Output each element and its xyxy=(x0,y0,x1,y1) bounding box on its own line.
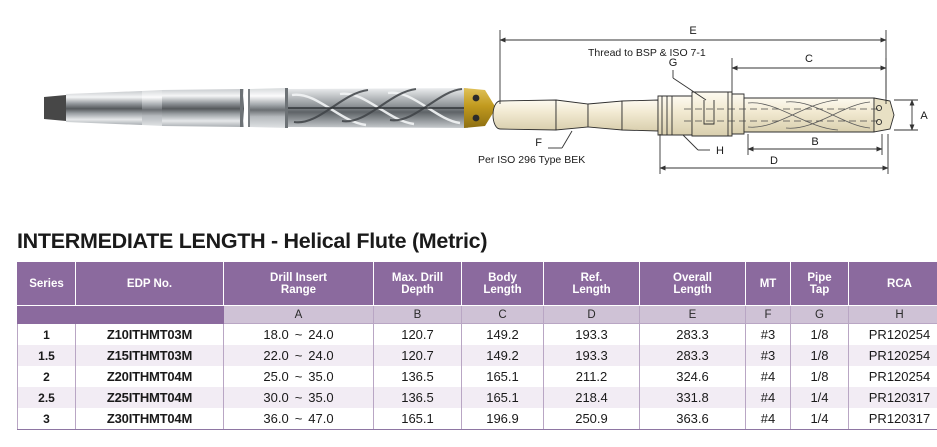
cell-series: 1 xyxy=(18,324,76,346)
cell-drill-insert-range: 30.0~35.0 xyxy=(224,387,374,408)
range-max: 35.0 xyxy=(308,369,333,384)
cell-rca: PR120254 xyxy=(849,324,937,346)
cell-overall-length: 283.3 xyxy=(640,324,746,346)
range-max: 47.0 xyxy=(308,411,333,426)
col-header-ref-length: Ref. Length xyxy=(544,263,640,306)
col-header-edp-line1: EDP No. xyxy=(127,278,172,290)
specification-table: Series EDP No. Drill Insert Range Max. D… xyxy=(17,262,937,430)
cell-drill-insert-range: 18.0~24.0 xyxy=(224,324,374,346)
cell-ref-length: 211.2 xyxy=(544,366,640,387)
col-header-pipe-tap: Pipe Tap xyxy=(791,263,849,306)
col-header-body-length: Body Length xyxy=(462,263,544,306)
table-head: Series EDP No. Drill Insert Range Max. D… xyxy=(18,263,937,324)
leader-line-F xyxy=(548,131,572,148)
cell-mt: #4 xyxy=(746,387,791,408)
range-max: 24.0 xyxy=(308,327,333,342)
range-max: 35.0 xyxy=(308,390,333,405)
cell-mt: #3 xyxy=(746,345,791,366)
subheader-F: F xyxy=(746,306,791,324)
cell-rca: PR120254 xyxy=(849,366,937,387)
range-separator: ~ xyxy=(289,327,309,342)
cell-max-drill-depth: 136.5 xyxy=(374,366,462,387)
cell-pipe-tap: 1/8 xyxy=(791,366,849,387)
col-header-series-line1: Series xyxy=(29,278,64,290)
leader-line-H xyxy=(683,135,710,150)
dimension-label-H: H xyxy=(716,145,724,157)
range-min: 25.0 xyxy=(263,369,288,384)
cell-edp: Z30ITHMT04M xyxy=(76,408,224,430)
cell-pipe-tap: 1/8 xyxy=(791,324,849,346)
table-row: 2 Z20ITHMT04M 25.0~35.0 136.5 165.1 211.… xyxy=(18,366,937,387)
cell-max-drill-depth: 120.7 xyxy=(374,324,462,346)
cell-drill-insert-range: 25.0~35.0 xyxy=(224,366,374,387)
dimension-label-D: D xyxy=(770,155,778,167)
drill-coolant-sleeve xyxy=(250,88,288,128)
cell-max-drill-depth: 136.5 xyxy=(374,387,462,408)
cell-overall-length: 324.6 xyxy=(640,366,746,387)
cell-body-length: 149.2 xyxy=(462,324,544,346)
cell-ref-length: 193.3 xyxy=(544,324,640,346)
dimension-label-F: F xyxy=(535,137,542,149)
col-header-rca: RCA xyxy=(849,263,937,306)
cell-rca: PR120317 xyxy=(849,408,937,430)
drill-photo-svg xyxy=(44,78,496,138)
cell-ref-length: 218.4 xyxy=(544,387,640,408)
dimension-label-E: E xyxy=(689,25,696,37)
dimension-line-A xyxy=(894,100,918,130)
cell-mt: #3 xyxy=(746,324,791,346)
table-row: 1 Z10ITHMT03M 18.0~24.0 120.7 149.2 193.… xyxy=(18,324,937,346)
col-header-ref-line2: Length xyxy=(572,284,610,296)
range-separator: ~ xyxy=(289,390,309,405)
cell-max-drill-depth: 165.1 xyxy=(374,408,462,430)
cell-pipe-tap: 1/4 xyxy=(791,387,849,408)
cell-overall-length: 331.8 xyxy=(640,387,746,408)
col-header-range-line1: Drill Insert xyxy=(270,272,327,284)
cell-edp: Z10ITHMT03M xyxy=(76,324,224,346)
range-min: 22.0 xyxy=(263,348,288,363)
schematic-svg: E C B D xyxy=(470,8,937,180)
cell-max-drill-depth: 120.7 xyxy=(374,345,462,366)
col-header-overall-line1: Overall xyxy=(673,272,712,284)
drill-shank-step-1 xyxy=(142,90,162,126)
table-row: 3 Z30ITHMT04M 36.0~47.0 165.1 196.9 250.… xyxy=(18,408,937,430)
cell-body-length: 165.1 xyxy=(462,387,544,408)
cell-ref-length: 193.3 xyxy=(544,345,640,366)
cell-drill-insert-range: 22.0~24.0 xyxy=(224,345,374,366)
col-header-mt: MT xyxy=(746,263,791,306)
cell-rca: PR120254 xyxy=(849,345,937,366)
cell-body-length: 149.2 xyxy=(462,345,544,366)
cell-edp: Z15ITHMT03M xyxy=(76,345,224,366)
col-header-range-line2: Range xyxy=(281,284,316,296)
subheader-D: D xyxy=(544,306,640,324)
cell-series: 2.5 xyxy=(18,387,76,408)
subheader-H: H xyxy=(849,306,937,324)
dimension-label-B: B xyxy=(811,136,818,148)
cell-mt: #4 xyxy=(746,366,791,387)
illustration-area: E C B D xyxy=(0,0,937,215)
cell-series: 3 xyxy=(18,408,76,430)
drill-body-segment xyxy=(162,89,244,127)
col-header-pipetap-line2: Tap xyxy=(810,284,830,296)
drill-taper-shank xyxy=(66,91,142,125)
col-header-body-line1: Body xyxy=(488,272,517,284)
table-body: 1 Z10ITHMT03M 18.0~24.0 120.7 149.2 193.… xyxy=(18,324,937,430)
range-min: 30.0 xyxy=(263,390,288,405)
range-max: 24.0 xyxy=(308,348,333,363)
col-header-max-drill-depth: Max. Drill Depth xyxy=(374,263,462,306)
subheader-C: C xyxy=(462,306,544,324)
dimension-label-A: A xyxy=(920,110,928,122)
drill-tang xyxy=(44,95,66,121)
col-header-body-line2: Length xyxy=(483,284,521,296)
col-header-drill-insert-range: Drill Insert Range xyxy=(224,263,374,306)
table-row: 1.5 Z15ITHMT03M 22.0~24.0 120.7 149.2 19… xyxy=(18,345,937,366)
cell-pipe-tap: 1/8 xyxy=(791,345,849,366)
range-separator: ~ xyxy=(289,369,309,384)
cell-rca: PR120317 xyxy=(849,387,937,408)
page-title: INTERMEDIATE LENGTH - Helical Flute (Met… xyxy=(17,229,487,254)
cell-overall-length: 283.3 xyxy=(640,345,746,366)
table-header-row: Series EDP No. Drill Insert Range Max. D… xyxy=(18,263,937,306)
table-subheader-row: A B C D E F G H xyxy=(18,306,937,324)
cell-edp: Z20ITHMT04M xyxy=(76,366,224,387)
subheader-G: G xyxy=(791,306,849,324)
cell-drill-insert-range: 36.0~47.0 xyxy=(224,408,374,430)
cell-body-length: 196.9 xyxy=(462,408,544,430)
range-min: 36.0 xyxy=(263,411,288,426)
cell-ref-length: 250.9 xyxy=(544,408,640,430)
subheader-B: B xyxy=(374,306,462,324)
col-header-pipetap-line1: Pipe xyxy=(807,272,831,284)
col-header-mt-line1: MT xyxy=(760,278,777,290)
subheader-series xyxy=(18,306,76,324)
dimension-label-C: C xyxy=(805,53,813,65)
cell-series: 2 xyxy=(18,366,76,387)
cell-series: 1.5 xyxy=(18,345,76,366)
col-header-rca-line1: RCA xyxy=(887,278,912,290)
cell-overall-length: 363.6 xyxy=(640,408,746,430)
drill-collar-ring-3 xyxy=(285,88,288,128)
range-separator: ~ xyxy=(289,411,309,426)
subheader-edp xyxy=(76,306,224,324)
cell-pipe-tap: 1/4 xyxy=(791,408,849,430)
cell-edp: Z25ITHMT04M xyxy=(76,387,224,408)
table-row: 2.5 Z25ITHMT04M 30.0~35.0 136.5 165.1 21… xyxy=(18,387,937,408)
note-iso-spec: Per ISO 296 Type BEK xyxy=(478,154,585,166)
col-header-overall-length: Overall Length xyxy=(640,263,746,306)
col-header-edp: EDP No. xyxy=(76,263,224,306)
col-header-series: Series xyxy=(18,263,76,306)
drill-dimension-schematic: E C B D xyxy=(470,8,937,180)
range-min: 18.0 xyxy=(263,327,288,342)
cell-mt: #4 xyxy=(746,408,791,430)
drill-collar-ring-1 xyxy=(240,89,243,127)
cell-body-length: 165.1 xyxy=(462,366,544,387)
drill-product-photo xyxy=(44,78,496,138)
col-header-ref-line1: Ref. xyxy=(581,272,603,284)
specification-table-container: Series EDP No. Drill Insert Range Max. D… xyxy=(17,262,920,430)
dimension-line-D xyxy=(660,134,888,174)
note-thread-spec: Thread to BSP & ISO 7-1 xyxy=(588,47,706,59)
col-header-depth-line1: Max. Drill xyxy=(392,272,443,284)
range-separator: ~ xyxy=(289,348,309,363)
subheader-A: A xyxy=(224,306,374,324)
subheader-E: E xyxy=(640,306,746,324)
col-header-overall-line2: Length xyxy=(673,284,711,296)
col-header-depth-line2: Depth xyxy=(401,284,434,296)
